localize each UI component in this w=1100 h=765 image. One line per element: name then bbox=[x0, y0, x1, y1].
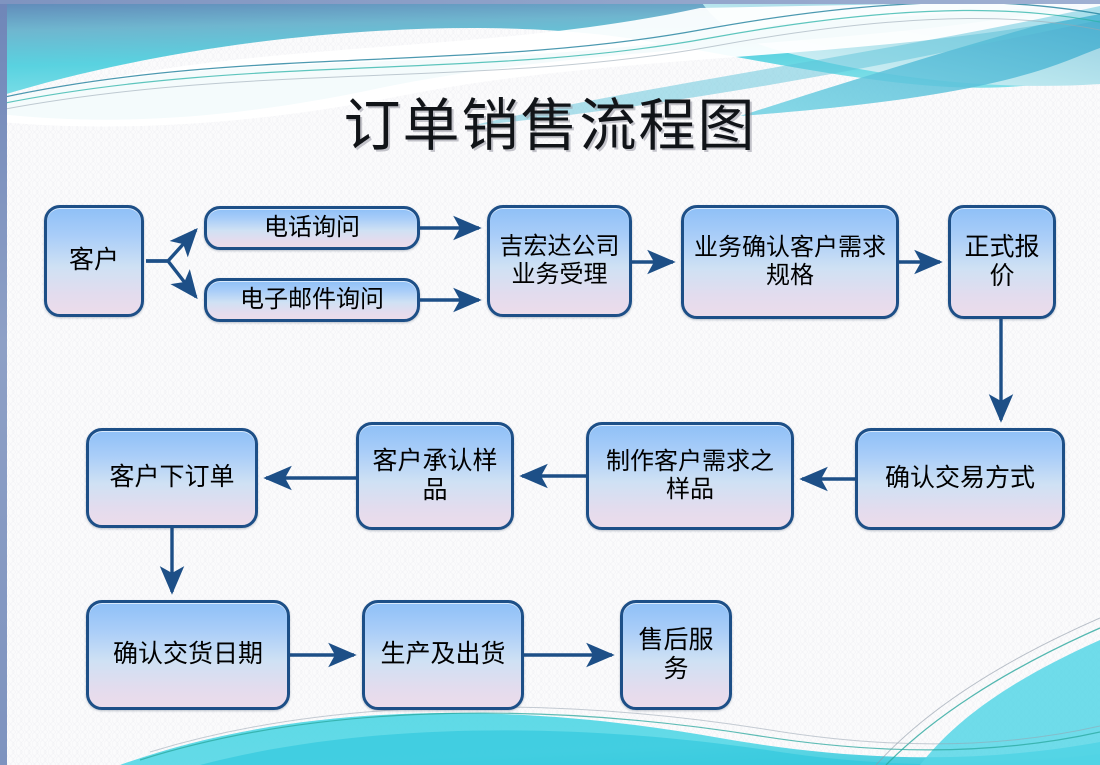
slide-canvas: 订单销售流程图 客户 电话询问 电子邮件询问 吉宏达公司业务受理 业务确认客户需… bbox=[0, 0, 1100, 765]
node-place-order[interactable]: 客户下订单 bbox=[86, 428, 258, 528]
node-email-inquiry[interactable]: 电子邮件询问 bbox=[204, 278, 420, 322]
node-formal-quote[interactable]: 正式报价 bbox=[948, 205, 1056, 319]
node-confirm-trade[interactable]: 确认交易方式 bbox=[855, 428, 1065, 530]
node-make-sample-label: 制作客户需求之样品 bbox=[595, 448, 785, 505]
node-after-service-label: 售后服务 bbox=[629, 626, 723, 685]
node-confirm-spec-label: 业务确认客户需求规格 bbox=[690, 234, 890, 291]
node-approve-sample[interactable]: 客户承认样品 bbox=[356, 422, 514, 530]
page-title: 订单销售流程图 bbox=[0, 96, 1100, 158]
node-make-sample[interactable]: 制作客户需求之样品 bbox=[586, 422, 794, 530]
node-customer[interactable]: 客户 bbox=[44, 205, 144, 317]
node-produce-ship[interactable]: 生产及出货 bbox=[362, 600, 524, 710]
node-formal-quote-label: 正式报价 bbox=[957, 233, 1047, 292]
node-after-service[interactable]: 售后服务 bbox=[620, 600, 732, 710]
node-produce-ship-label: 生产及出货 bbox=[380, 640, 505, 670]
node-phone-inquiry[interactable]: 电话询问 bbox=[204, 206, 420, 250]
node-company-accept-label: 吉宏达公司业务受理 bbox=[496, 233, 623, 290]
node-company-accept[interactable]: 吉宏达公司业务受理 bbox=[487, 205, 632, 317]
edge-customer-phone bbox=[146, 230, 196, 261]
node-place-order-label: 客户下订单 bbox=[109, 463, 234, 493]
node-confirm-trade-label: 确认交易方式 bbox=[885, 464, 1035, 494]
node-confirm-date-label: 确认交货日期 bbox=[113, 640, 263, 670]
node-phone-inquiry-label: 电话询问 bbox=[264, 214, 360, 242]
node-confirm-spec[interactable]: 业务确认客户需求规格 bbox=[681, 205, 899, 319]
node-customer-label: 客户 bbox=[69, 246, 119, 276]
node-approve-sample-label: 客户承认样品 bbox=[365, 447, 505, 506]
node-confirm-date[interactable]: 确认交货日期 bbox=[86, 600, 290, 710]
slide-frame-top bbox=[0, 0, 1100, 4]
node-email-inquiry-label: 电子邮件询问 bbox=[240, 286, 384, 314]
edge-customer-email bbox=[146, 261, 196, 297]
